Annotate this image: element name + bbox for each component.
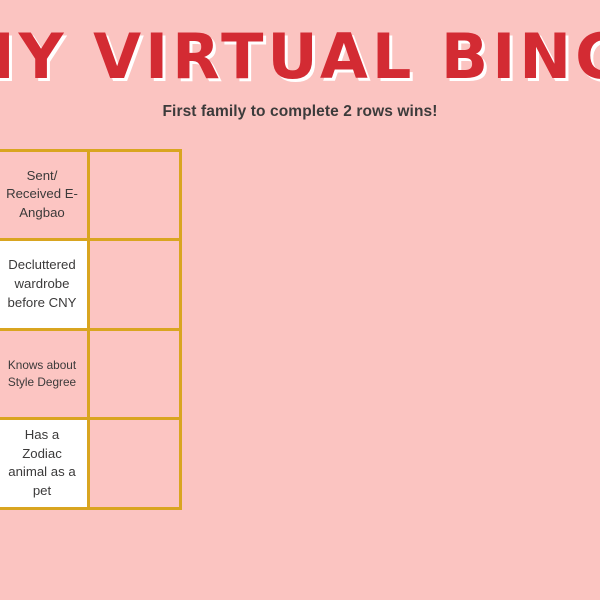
page-subtitle: First family to complete 2 rows wins! bbox=[0, 103, 600, 121]
bingo-cell-r3c3[interactable] bbox=[87, 328, 182, 421]
bingo-cell-r1c3[interactable] bbox=[87, 149, 182, 242]
page-header: CNY VIRTUAL BINGO First family to comple… bbox=[0, 0, 600, 140]
bingo-cell-r4c3[interactable] bbox=[87, 417, 182, 510]
bingo-cell-label: Knows about Style Degree bbox=[4, 357, 81, 391]
bingo-card-grid: Born in this Zodiac year Sent/ Received … bbox=[0, 150, 180, 508]
bingo-cell-r2c3[interactable] bbox=[87, 238, 182, 331]
bingo-cell-label: Sent/ Received E-Angbao bbox=[4, 167, 81, 223]
bingo-cell-r3c2[interactable]: Knows about Style Degree bbox=[0, 328, 90, 421]
bingo-cell-label: Has a Zodiac animal as a pet bbox=[4, 426, 81, 501]
bingo-cell-r2c2[interactable]: Decluttered wardrobe before CNY bbox=[0, 238, 90, 331]
page-title: CNY VIRTUAL BINGO bbox=[0, 26, 600, 88]
bingo-cell-r1c2[interactable]: Sent/ Received E-Angbao bbox=[0, 149, 90, 242]
bingo-cell-label: Decluttered wardrobe before CNY bbox=[4, 256, 81, 312]
bingo-cell-r4c2[interactable]: Has a Zodiac animal as a pet bbox=[0, 417, 90, 510]
